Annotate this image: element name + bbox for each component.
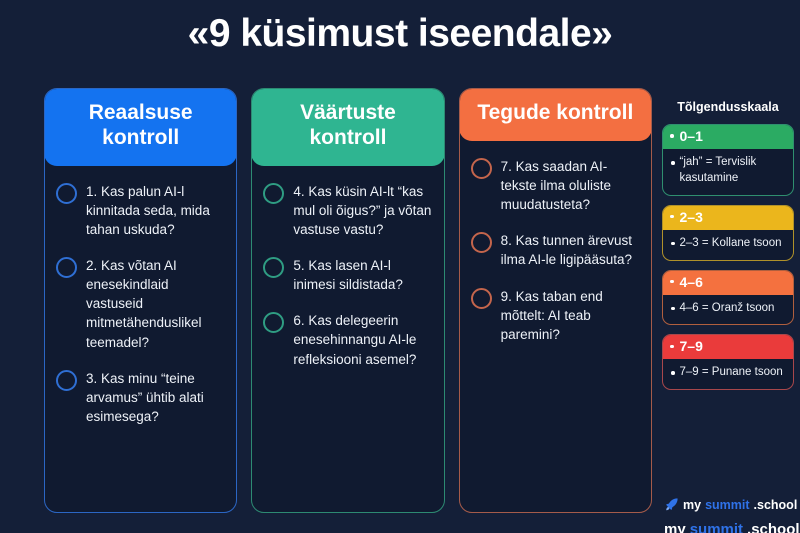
rocket-icon [664,497,679,512]
bullet-icon [671,371,675,375]
question-text: 5. Kas lasen AI-l inimesi sildistada? [293,256,431,294]
column-body-2: 4. Kas küsin AI-lt “kas mul oli õigus?” … [252,166,443,512]
scale-range-label: 4–6 [680,274,703,290]
scale-description: “jah” = Tervislik kasutamine [680,155,786,187]
logo-my: my [664,521,686,533]
scale-card-4-6[interactable]: 4–6 4–6 = Oranž tsoon [662,270,794,326]
bullet-icon [670,280,674,284]
circle-icon [471,288,492,309]
brand-logo-footer[interactable]: mysummit.school [664,521,800,533]
bullet-icon [671,161,675,165]
question-item[interactable]: 1. Kas palun AI-l kinnitada seda, mida t… [56,182,224,239]
logo-school: .school [754,498,798,512]
scale-range-label: 0–1 [680,128,703,144]
column-header-3: Tegude kontroll [459,88,652,141]
logo-summit: summit [690,521,743,533]
question-text: 1. Kas palun AI-l kinnitada seda, mida t… [86,182,224,239]
scale-card-header: 0–1 [662,124,794,149]
circle-icon [56,257,77,278]
question-item[interactable]: 5. Kas lasen AI-l inimesi sildistada? [263,256,431,294]
circle-icon [263,312,284,333]
question-text: 3. Kas minu “teine arvamus” ühtib alati … [86,369,224,426]
question-item[interactable]: 2. Kas võtan AI enesekindlaid vastuseid … [56,256,224,352]
column-tegude-kontroll: Tegude kontroll 7. Kas saadan AI-tekste … [459,88,652,513]
bullet-icon [670,345,674,349]
column-header-1: Reaalsuse kontroll [44,88,237,166]
question-columns: Reaalsuse kontroll 1. Kas palun AI-l kin… [44,88,652,513]
scale-description: 2–3 = Kollane tsoon [680,236,782,252]
scale-card-header: 4–6 [662,270,794,295]
bullet-icon [670,215,674,219]
scale-card-header: 2–3 [662,205,794,230]
question-item[interactable]: 8. Kas tunnen ärevust ilma AI-le ligipää… [471,231,639,269]
logo-summit: summit [705,498,749,512]
scale-card-7-9[interactable]: 7–9 7–9 = Punane tsoon [662,334,794,390]
bullet-icon [671,307,675,311]
column-vaartuste-kontroll: Väärtuste kontroll 4. Kas küsin AI-lt “k… [251,88,444,513]
question-text: 4. Kas küsin AI-lt “kas mul oli õigus?” … [293,182,431,239]
scale-card-body: 2–3 = Kollane tsoon [663,230,793,260]
page-title: «9 küsimust iseendale» [0,0,800,56]
scale-description: 4–6 = Oranž tsoon [680,301,775,317]
logo-my: my [683,498,701,512]
circle-icon [56,370,77,391]
logo-school: .school [747,521,800,533]
circle-icon [263,257,284,278]
circle-icon [471,158,492,179]
circle-icon [56,183,77,204]
question-item[interactable]: 9. Kas taban end mõttelt: AI teab paremi… [471,287,639,344]
scale-range-label: 7–9 [680,338,703,354]
question-text: 8. Kas tunnen ärevust ilma AI-le ligipää… [501,231,639,269]
interpretation-scale-panel: Tõlgendusskaala 0–1 “jah” = Tervislik ka… [662,100,794,399]
scale-title: Tõlgendusskaala [662,100,794,114]
question-item[interactable]: 7. Kas saadan AI-tekste ilma oluliste mu… [471,157,639,214]
column-body-3: 7. Kas saadan AI-tekste ilma oluliste mu… [460,141,651,512]
question-item[interactable]: 6. Kas delegeerin enesehinnangu AI-le re… [263,311,431,368]
question-item[interactable]: 4. Kas küsin AI-lt “kas mul oli õigus?” … [263,182,431,239]
question-text: 9. Kas taban end mõttelt: AI teab paremi… [501,287,639,344]
column-body-1: 1. Kas palun AI-l kinnitada seda, mida t… [45,166,236,512]
circle-icon [263,183,284,204]
scale-card-body: 4–6 = Oranž tsoon [663,295,793,325]
bullet-icon [671,242,675,246]
bullet-icon [670,134,674,138]
question-text: 7. Kas saadan AI-tekste ilma oluliste mu… [501,157,639,214]
scale-card-body: “jah” = Tervislik kasutamine [663,149,793,195]
scale-description: 7–9 = Punane tsoon [680,365,783,381]
question-text: 6. Kas delegeerin enesehinnangu AI-le re… [293,311,431,368]
scale-range-label: 2–3 [680,209,703,225]
brand-logo-inline[interactable]: mysummit.school [664,497,797,512]
column-header-2: Väärtuste kontroll [251,88,444,166]
scale-card-2-3[interactable]: 2–3 2–3 = Kollane tsoon [662,205,794,261]
scale-card-0-1[interactable]: 0–1 “jah” = Tervislik kasutamine [662,124,794,196]
column-reaalsuse-kontroll: Reaalsuse kontroll 1. Kas palun AI-l kin… [44,88,237,513]
scale-card-body: 7–9 = Punane tsoon [663,359,793,389]
question-text: 2. Kas võtan AI enesekindlaid vastuseid … [86,256,224,352]
question-item[interactable]: 3. Kas minu “teine arvamus” ühtib alati … [56,369,224,426]
circle-icon [471,232,492,253]
scale-card-header: 7–9 [662,334,794,359]
